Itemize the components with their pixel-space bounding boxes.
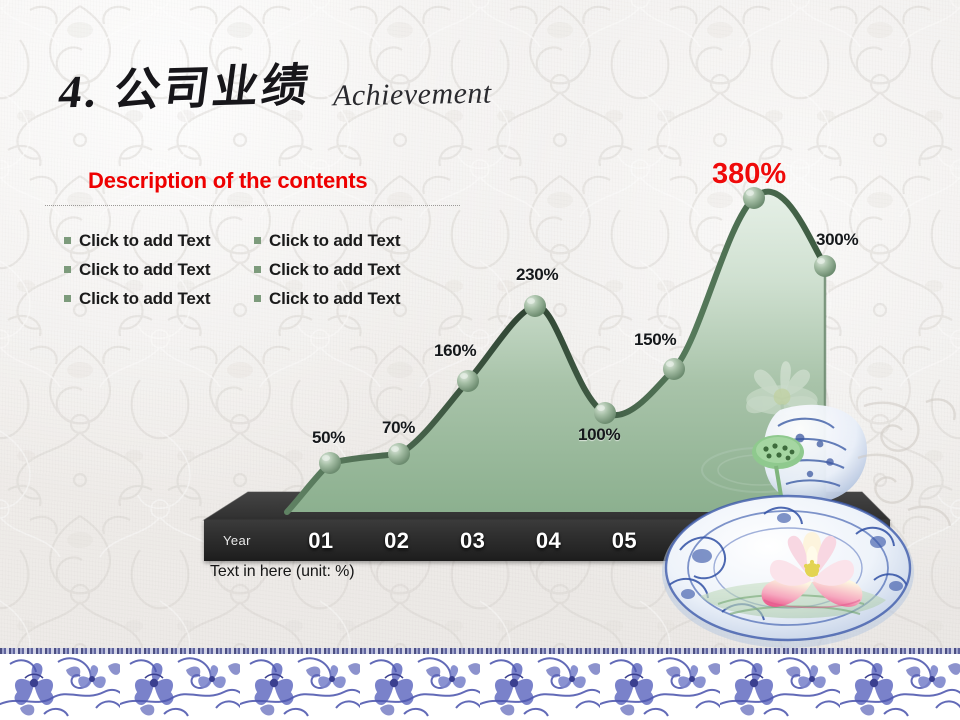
- bullet-square-icon: [254, 295, 261, 302]
- axis-tick-list: 01 02 03 04 05 06 07 08: [283, 528, 890, 554]
- list-item-label: Click to add Text: [79, 289, 210, 309]
- axis-tick-04[interactable]: 04: [511, 528, 587, 554]
- page-title: 4. 公司业绩 Achievement: [60, 52, 492, 118]
- list-item-label: Click to add Text: [79, 231, 210, 251]
- description-divider: [45, 205, 460, 206]
- axis-tick-06[interactable]: 06: [662, 528, 738, 554]
- title-chinese-text: 公司业绩: [111, 60, 314, 116]
- description-heading: Description of the contents: [88, 168, 367, 194]
- axis-tick-08[interactable]: 08: [814, 528, 890, 554]
- axis-tick-05[interactable]: 05: [587, 528, 663, 554]
- bullet-square-icon: [64, 295, 71, 302]
- list-item[interactable]: Click to add Text: [254, 284, 444, 313]
- title-chinese: 4. 公司业绩: [55, 49, 316, 122]
- bullet-square-icon: [254, 237, 261, 244]
- bottom-border: [0, 648, 960, 720]
- border-floral-pattern: [0, 654, 960, 720]
- bullet-list: Click to add Text Click to add Text Clic…: [64, 226, 444, 313]
- title-english: Achievement: [333, 77, 492, 114]
- list-item-label: Click to add Text: [79, 260, 210, 280]
- slide-canvas: 4. 公司业绩 Achievement Description of the c…: [0, 0, 960, 720]
- axis-tick-03[interactable]: 03: [435, 528, 511, 554]
- bullet-square-icon: [64, 237, 71, 244]
- bullet-square-icon: [64, 266, 71, 273]
- list-item-label: Click to add Text: [269, 231, 400, 251]
- axis-tick-01[interactable]: 01: [283, 528, 359, 554]
- title-number: 4.: [56, 65, 103, 117]
- list-item-label: Click to add Text: [269, 260, 400, 280]
- x-axis-bar: Year 01 02 03 04 05 06 07 08: [204, 520, 890, 561]
- axis-row-label: Year: [223, 533, 283, 548]
- list-item-label: Click to add Text: [269, 289, 400, 309]
- bullet-square-icon: [254, 266, 261, 273]
- chart-caption: Text in here (unit: %): [210, 563, 355, 581]
- list-item[interactable]: Click to add Text: [64, 226, 254, 255]
- list-item[interactable]: Click to add Text: [254, 226, 444, 255]
- axis-tick-02[interactable]: 02: [359, 528, 435, 554]
- list-item[interactable]: Click to add Text: [64, 255, 254, 284]
- list-item[interactable]: Click to add Text: [64, 284, 254, 313]
- list-item[interactable]: Click to add Text: [254, 255, 444, 284]
- axis-tick-07[interactable]: 07: [738, 528, 814, 554]
